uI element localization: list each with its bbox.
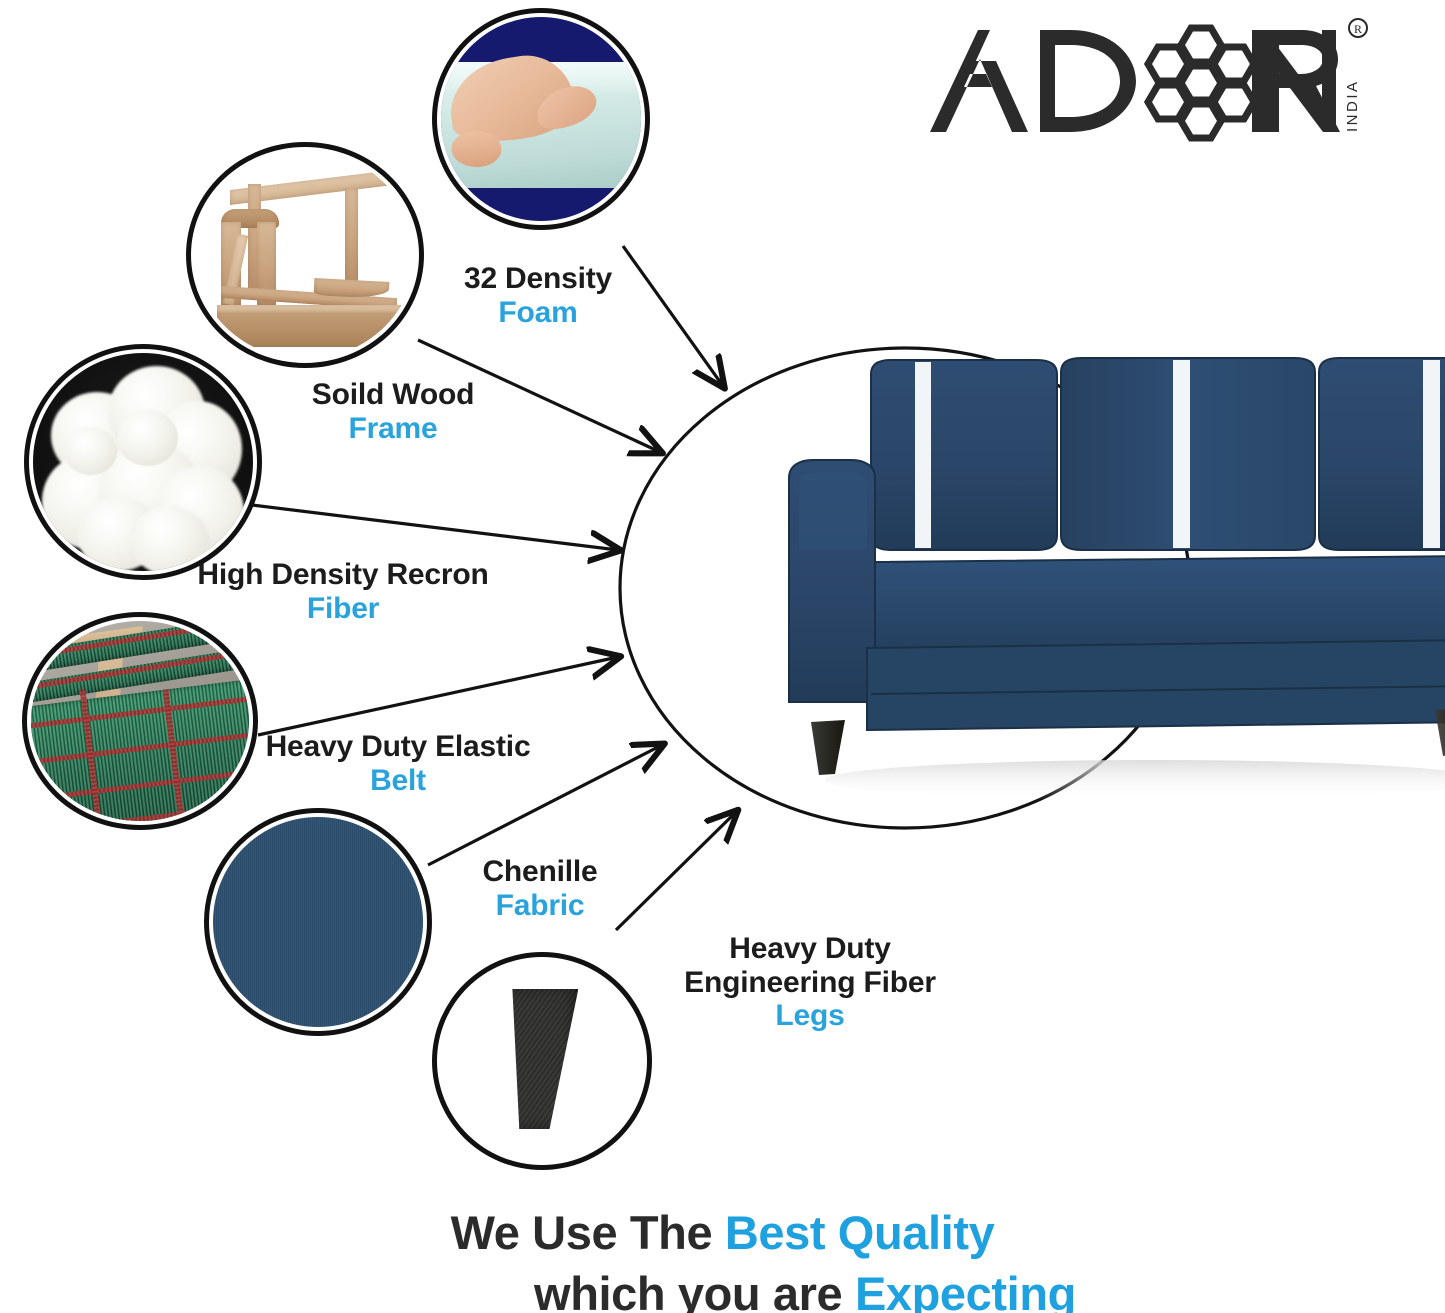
label-belt-title: Heavy Duty Elastic	[248, 730, 548, 764]
tagline-line-1-accent: Best Quality	[725, 1206, 994, 1259]
cushion-stripe-3	[1423, 360, 1440, 548]
logo-svg: INDIA R	[920, 14, 1370, 144]
label-frame-accent: Frame	[248, 412, 538, 446]
feature-image-fiber	[24, 344, 262, 580]
sofa-back-cushion-1	[871, 360, 1057, 550]
feature-image-fabric	[204, 808, 432, 1036]
tagline-line-1-plain: We Use The	[451, 1206, 725, 1259]
label-fiber-accent: Fiber	[188, 592, 498, 626]
sofa-leg-right	[1435, 708, 1445, 756]
label-foam-accent: Foam	[408, 296, 668, 330]
hexagon-cluster-icon	[1148, 28, 1254, 138]
product-sofa-image	[775, 350, 1445, 830]
sofa-svg	[775, 350, 1445, 830]
sofa-seat-cushion	[875, 556, 1445, 650]
feature-image-belt	[22, 612, 258, 830]
sofa-back-cushion-3	[1319, 358, 1445, 550]
cushion-stripe-1	[915, 362, 931, 548]
svg-text:R: R	[1354, 22, 1362, 36]
logo-india-text: INDIA	[1344, 79, 1361, 132]
label-belt-accent: Belt	[248, 764, 548, 798]
arrow-belt	[258, 657, 618, 735]
label-foam-title: 32 Density	[408, 262, 668, 296]
feature-image-frame	[186, 142, 424, 368]
label-fabric: Chenille Fabric	[440, 855, 640, 922]
label-belt: Heavy Duty Elastic Belt	[248, 730, 548, 797]
label-foam: 32 Density Foam	[408, 262, 668, 329]
arrow-fiber	[252, 505, 618, 550]
label-frame: Soild Wood Frame	[248, 378, 538, 445]
tagline: We Use The Best Quality which you are Ex…	[0, 1205, 1445, 1313]
tagline-line-2: which you are Expecting	[0, 1266, 1445, 1313]
registered-trademark-icon: R	[1349, 19, 1367, 37]
label-legs-accent: Legs	[650, 999, 970, 1033]
sofa-back-cushion-2	[1061, 358, 1315, 550]
label-fiber-title: High Density Recron	[188, 558, 498, 592]
feature-image-foam	[432, 8, 650, 230]
label-fabric-accent: Fabric	[440, 889, 640, 923]
label-legs-title-1: Heavy Duty	[650, 932, 970, 966]
tagline-line-2-accent: Expecting	[855, 1267, 1076, 1313]
label-fabric-title: Chenille	[440, 855, 640, 889]
product-feature-infographic: INDIA R	[0, 0, 1445, 1313]
adorn-india-logo: INDIA R	[920, 14, 1370, 144]
sofa-base	[867, 640, 1445, 730]
feature-image-legs	[432, 952, 652, 1170]
sofa-floor-shadow	[825, 760, 1445, 800]
tagline-line-1: We Use The Best Quality	[0, 1205, 1445, 1260]
label-legs: Heavy Duty Engineering Fiber Legs	[650, 932, 970, 1033]
cushion-stripe-2	[1173, 360, 1190, 548]
label-legs-title-2: Engineering Fiber	[650, 966, 970, 1000]
sofa-leg-front-left	[811, 720, 845, 775]
label-fiber: High Density Recron Fiber	[188, 558, 498, 625]
tagline-line-2-plain: which you are	[534, 1267, 855, 1313]
label-frame-title: Soild Wood	[248, 378, 538, 412]
